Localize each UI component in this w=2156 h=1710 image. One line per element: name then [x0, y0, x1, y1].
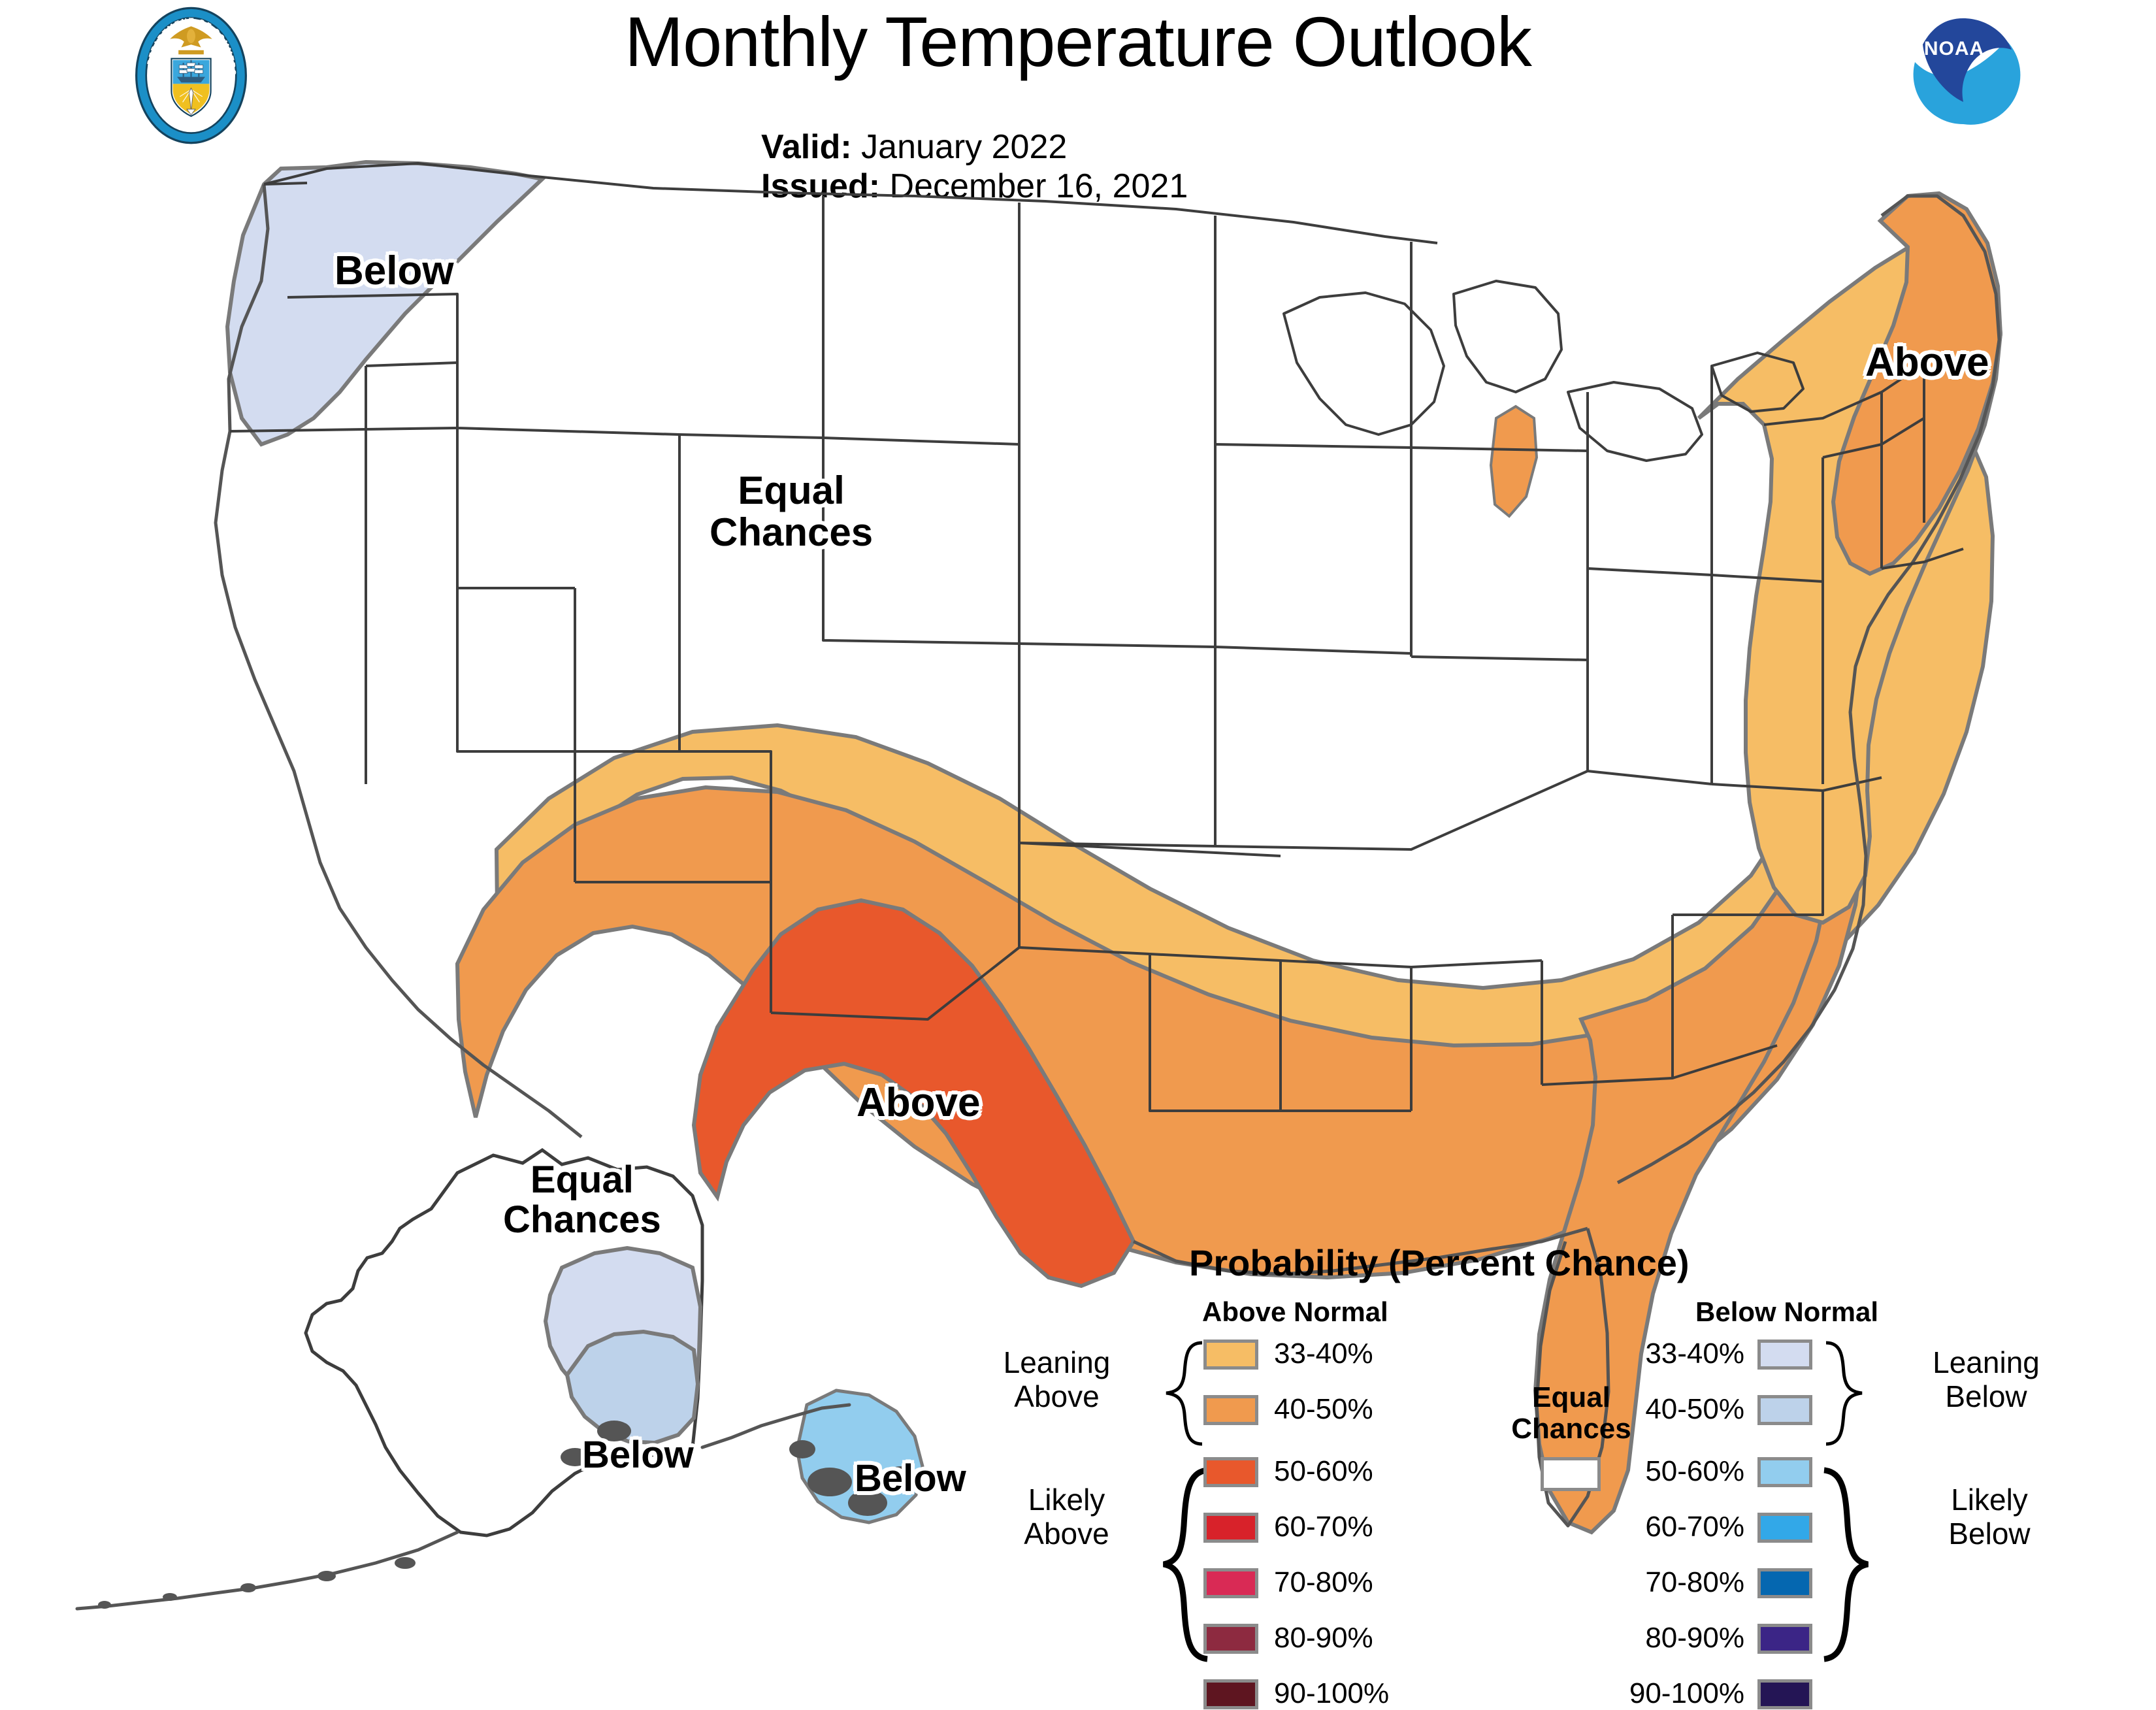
- legend-below-swatch-90to100: [1757, 1679, 1812, 1709]
- legend-below-swatch-33to40: [1757, 1340, 1812, 1370]
- map-label-equal-chances-alaska: Equal Chances: [503, 1160, 661, 1240]
- legend-likely-above-label: Likely Above: [993, 1483, 1140, 1551]
- legend-below-swatch-50to60: [1757, 1457, 1812, 1487]
- legend-above-label-40to50: 40-50%: [1274, 1393, 1373, 1426]
- legend-below-label-80to90: 80-90%: [1581, 1622, 1744, 1654]
- legend-above-swatch-50to60: [1203, 1457, 1258, 1487]
- legend-below-swatch-70to80: [1757, 1568, 1812, 1598]
- map-label-below-alaska-panhandle: Below: [855, 1458, 966, 1498]
- legend-below-label-50to60: 50-60%: [1581, 1455, 1744, 1488]
- region-above-michigan-sliver: [1491, 406, 1537, 516]
- probability-legend: Probability (Percent Chance) Above Norma…: [973, 1241, 2104, 1666]
- legend-above-swatch-80to90: [1203, 1624, 1258, 1654]
- brace-likely-above: [1140, 1467, 1212, 1663]
- legend-title: Probability (Percent Chance): [1189, 1241, 1690, 1284]
- legend-above-normal-header: Above Normal: [1202, 1296, 1388, 1328]
- legend-above-label-80to90: 80-90%: [1274, 1622, 1373, 1654]
- map-label-above-south: Above: [857, 1081, 980, 1125]
- legend-below-swatch-60to70: [1757, 1513, 1812, 1543]
- legend-leaning-below-label: Leaning Below: [1901, 1346, 2071, 1413]
- map-label-equal-chances-conus: Equal Chances: [710, 470, 873, 553]
- legend-above-swatch-33to40: [1203, 1340, 1258, 1370]
- legend-above-swatch-40to50: [1203, 1395, 1258, 1425]
- legend-below-label-40to50: 40-50%: [1581, 1393, 1744, 1426]
- legend-above-label-70to80: 70-80%: [1274, 1566, 1373, 1599]
- legend-below-label-90to100: 90-100%: [1581, 1677, 1744, 1710]
- legend-above-label-33to40: 33-40%: [1274, 1338, 1373, 1370]
- legend-leaning-above-label: Leaning Above: [973, 1346, 1140, 1413]
- legend-below-label-70to80: 70-80%: [1581, 1566, 1744, 1599]
- legend-below-swatch-80to90: [1757, 1624, 1812, 1654]
- legend-above-label-50to60: 50-60%: [1274, 1455, 1373, 1488]
- map-label-below-alaska-south: Below: [582, 1435, 694, 1475]
- brace-leaning-below: [1823, 1340, 1888, 1447]
- alaska-inset: [77, 1150, 923, 1609]
- legend-above-label-60to70: 60-70%: [1274, 1511, 1373, 1543]
- legend-above-swatch-70to80: [1203, 1568, 1258, 1598]
- legend-below-normal-header: Below Normal: [1695, 1296, 1878, 1328]
- legend-above-label-90to100: 90-100%: [1274, 1677, 1389, 1710]
- map-label-above-northeast: Above: [1865, 341, 1989, 384]
- legend-below-swatch-40to50: [1757, 1395, 1812, 1425]
- legend-below-label-33to40: 33-40%: [1581, 1338, 1744, 1370]
- legend-likely-below-label: Likely Below: [1914, 1483, 2065, 1551]
- region-below-northwest: [227, 162, 542, 444]
- brace-likely-below: [1820, 1467, 1891, 1663]
- legend-below-label-60to70: 60-70%: [1581, 1511, 1744, 1543]
- legend-above-swatch-90to100: [1203, 1679, 1258, 1709]
- brace-leaning-above: [1140, 1340, 1205, 1447]
- legend-above-swatch-60to70: [1203, 1513, 1258, 1543]
- map-label-below-northwest: Below: [335, 250, 454, 293]
